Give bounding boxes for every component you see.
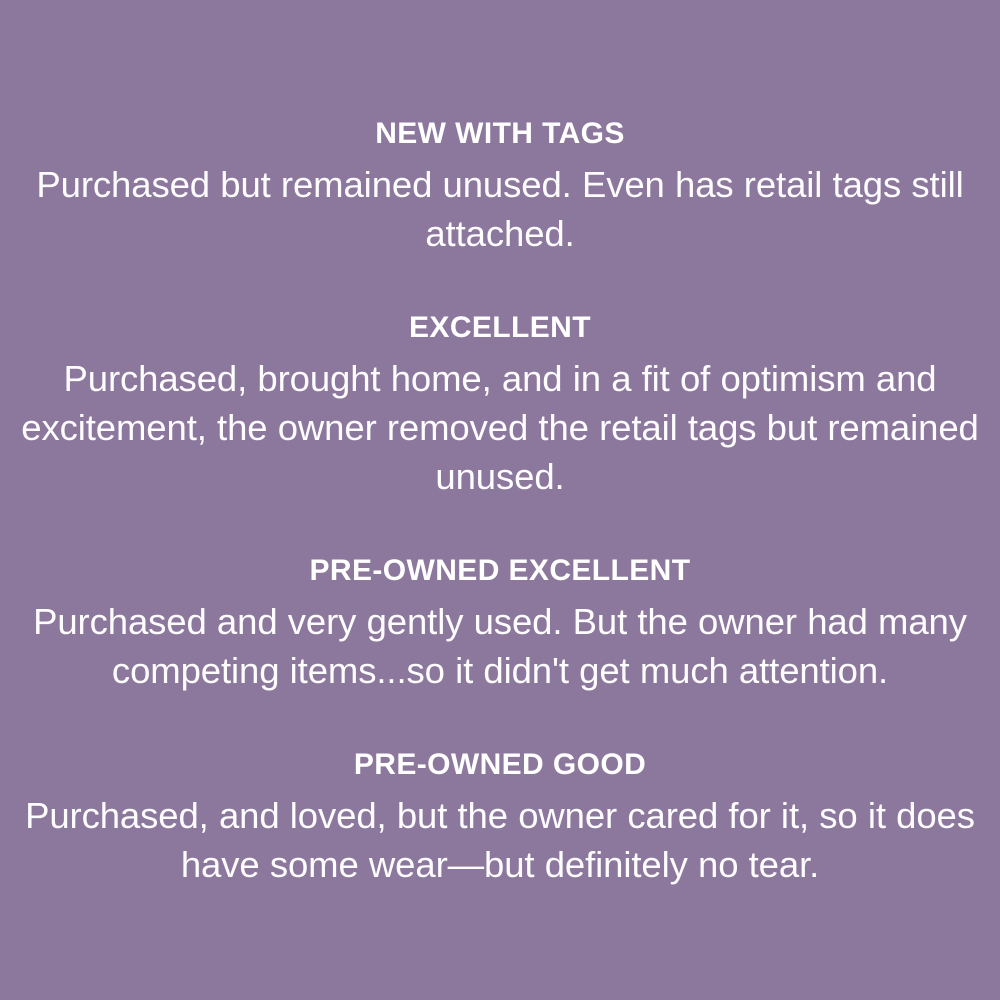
condition-block-pre-owned-excellent: PRE-OWNED EXCELLENT Purchased and very g… <box>6 549 994 695</box>
condition-description: Purchased, and loved, but the owner care… <box>6 791 994 889</box>
condition-description: Purchased but remained unused. Even has … <box>6 160 994 258</box>
condition-block-pre-owned-good: PRE-OWNED GOOD Purchased, and loved, but… <box>6 743 994 889</box>
condition-block-excellent: EXCELLENT Purchased, brought home, and i… <box>6 306 994 501</box>
condition-guide-card: NEW WITH TAGS Purchased but remained unu… <box>0 0 1000 1000</box>
condition-description: Purchased and very gently used. But the … <box>6 597 994 695</box>
condition-block-new-with-tags: NEW WITH TAGS Purchased but remained unu… <box>6 112 994 258</box>
condition-title: EXCELLENT <box>6 306 994 350</box>
condition-title: PRE-OWNED EXCELLENT <box>6 549 994 593</box>
condition-title: NEW WITH TAGS <box>6 112 994 156</box>
condition-description: Purchased, brought home, and in a fit of… <box>6 354 994 501</box>
condition-title: PRE-OWNED GOOD <box>6 743 994 787</box>
condition-block-list: NEW WITH TAGS Purchased but remained unu… <box>6 112 994 889</box>
